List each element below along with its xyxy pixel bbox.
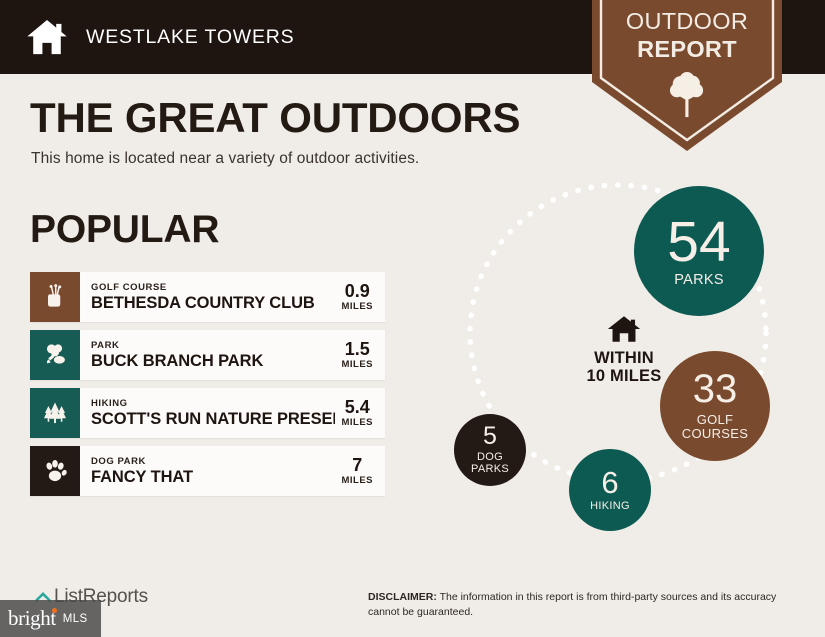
poi-name: BETHESDA COUNTRY CLUB [91, 294, 335, 312]
list-item[interactable]: DOG PARK FANCY THAT 7 MILES [30, 446, 385, 496]
bubble-parks-label: PARKS [674, 273, 724, 288]
bright-mls-watermark: bright MLS [0, 600, 101, 637]
disclaimer-label: DISCLAIMER: [368, 591, 437, 603]
page-title: THE GREAT OUTDOORS [30, 96, 520, 140]
poi-distance-unit: MILES [341, 359, 373, 371]
poi-category: PARK [91, 340, 335, 352]
center-line-1: WITHIN [544, 349, 704, 367]
bubble-hiking-value: 6 [601, 468, 618, 498]
poi-distance-unit: MILES [341, 301, 373, 313]
bright-mls-brand: bright [8, 606, 56, 630]
poi-name: FANCY THAT [91, 468, 335, 486]
popular-poi-list: GOLF COURSE BETHESDA COUNTRY CLUB 0.9 MI… [30, 272, 385, 504]
tree-icon [668, 72, 706, 118]
poi-category: GOLF COURSE [91, 282, 335, 294]
poi-name: BUCK BRANCH PARK [91, 352, 335, 370]
bubble-golf-label-line1: GOLF [697, 412, 734, 427]
bright-mls-dot-icon [52, 608, 57, 613]
poi-distance-value: 0.9 [345, 282, 370, 301]
list-item[interactable]: GOLF COURSE BETHESDA COUNTRY CLUB 0.9 MI… [30, 272, 385, 322]
poi-distance-value: 7 [352, 456, 362, 475]
bubble-hiking[interactable]: 6 HIKING [569, 449, 651, 531]
bubble-dog-value: 5 [483, 424, 497, 449]
bubble-dog-label: DOG PARKS [471, 451, 509, 476]
poi-distance: 7 MILES [335, 446, 385, 496]
center-line-2: 10 MILES [544, 367, 704, 385]
list-item[interactable]: HIKING SCOTT'S RUN NATURE PRESERVE 5.4 M… [30, 388, 385, 438]
popular-section-heading: POPULAR [30, 210, 219, 249]
bubble-dog-label-line1: DOG [477, 451, 503, 463]
bubble-golf-label-line2: COURSES [682, 426, 748, 441]
bubble-parks[interactable]: 54 PARKS [634, 186, 764, 316]
disclaimer: DISCLAIMER: The information in this repo… [368, 590, 792, 620]
page-subtitle: This home is located near a variety of o… [31, 150, 419, 168]
poi-name: SCOTT'S RUN NATURE PRESERVE [91, 410, 335, 428]
bubble-hiking-label: HIKING [590, 501, 630, 512]
poi-distance-unit: MILES [341, 417, 373, 429]
home-icon [607, 314, 641, 344]
poi-distance-unit: MILES [341, 475, 373, 487]
poi-category: DOG PARK [91, 456, 335, 468]
bubble-golf-label: GOLF COURSES [682, 413, 748, 442]
bubble-dog-parks[interactable]: 5 DOG PARKS [454, 414, 526, 486]
outdoor-report-badge: OUTDOOR REPORT [592, 0, 782, 151]
within-10-miles-bubble-chart: 54 PARKS 33 GOLF COURSES 6 HIKING 5 DOG … [432, 176, 822, 554]
park-tree-icon [30, 330, 80, 380]
golf-bag-icon [30, 272, 80, 322]
bubble-parks-value: 54 [667, 215, 730, 271]
center-marker-text: WITHIN 10 MILES [544, 349, 704, 386]
pine-trees-icon [30, 388, 80, 438]
poi-distance: 1.5 MILES [335, 330, 385, 380]
bright-mls-suffix: MLS [63, 613, 88, 625]
poi-category: HIKING [91, 398, 335, 410]
bubble-dog-label-line2: PARKS [471, 463, 509, 475]
poi-distance-value: 1.5 [345, 340, 370, 359]
poi-distance-value: 5.4 [345, 398, 370, 417]
property-name: WESTLAKE TOWERS [86, 26, 295, 49]
center-marker: WITHIN 10 MILES [544, 314, 704, 386]
paw-print-icon [30, 446, 80, 496]
poi-distance: 0.9 MILES [335, 272, 385, 322]
bright-mls-wordmark: bright [8, 606, 56, 631]
list-item[interactable]: PARK BUCK BRANCH PARK 1.5 MILES [30, 330, 385, 380]
home-icon [26, 16, 68, 58]
poi-distance: 5.4 MILES [335, 388, 385, 438]
